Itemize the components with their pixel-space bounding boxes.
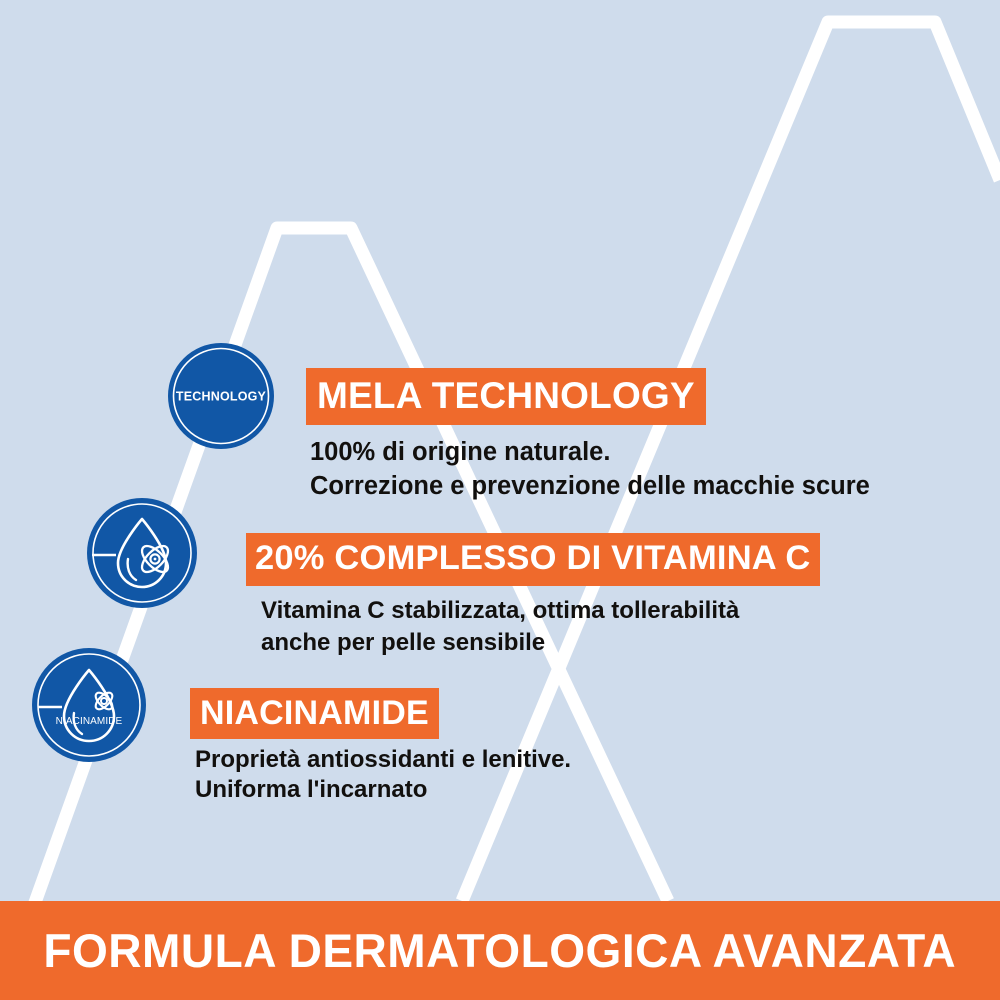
- feature-row-vitamina-c: 20% COMPLESSO DI VITAMINA C Vitamina C s…: [246, 533, 820, 659]
- feature-description-1: 100% di origine naturale. Correzione e p…: [306, 435, 870, 503]
- bottom-banner-text: FORMULA DERMATOLOGICA AVANZATA: [44, 923, 957, 978]
- feature-description-3: Proprietà antiossidanti e lenitive. Unif…: [190, 745, 571, 805]
- circle-fill: [32, 648, 146, 762]
- droplet-molecule-icon: [86, 497, 198, 609]
- feature-title-badge-3: NIACINAMIDE: [190, 688, 439, 739]
- promotional-poster: TECHNOLOGY: [0, 0, 1000, 1000]
- feature-description-line: anche per pelle sensibile: [261, 627, 739, 659]
- technology-icon-label: TECHNOLOGY: [176, 390, 267, 404]
- feature-title-badge-2: 20% COMPLESSO DI VITAMINA C: [246, 533, 820, 586]
- feature-description-2: Vitamina C stabilizzata, ottima tollerab…: [246, 595, 739, 659]
- bottom-banner: FORMULA DERMATOLOGICA AVANZATA: [0, 901, 1000, 1000]
- feature-row-niacinamide: NIACINAMIDE Proprietà antiossidanti e le…: [190, 688, 571, 805]
- feature-description-line: 100% di origine naturale.: [310, 435, 870, 469]
- feature-description-line: Uniforma l'incarnato: [195, 775, 571, 805]
- droplet-niacinamide-icon: NIACINAMIDE: [31, 647, 147, 763]
- feature-title-badge-1: MELA TECHNOLOGY: [306, 368, 706, 425]
- feature-description-line: Proprietà antiossidanti e lenitive.: [195, 745, 571, 775]
- feature-row-mela-technology: MELA TECHNOLOGY 100% di origine naturale…: [306, 368, 870, 503]
- niacinamide-icon-label: NIACINAMIDE: [56, 716, 123, 727]
- technology-badge-icon: TECHNOLOGY: [167, 342, 275, 450]
- feature-description-line: Vitamina C stabilizzata, ottima tollerab…: [261, 595, 739, 627]
- feature-description-line: Correzione e prevenzione delle macchie s…: [310, 469, 870, 503]
